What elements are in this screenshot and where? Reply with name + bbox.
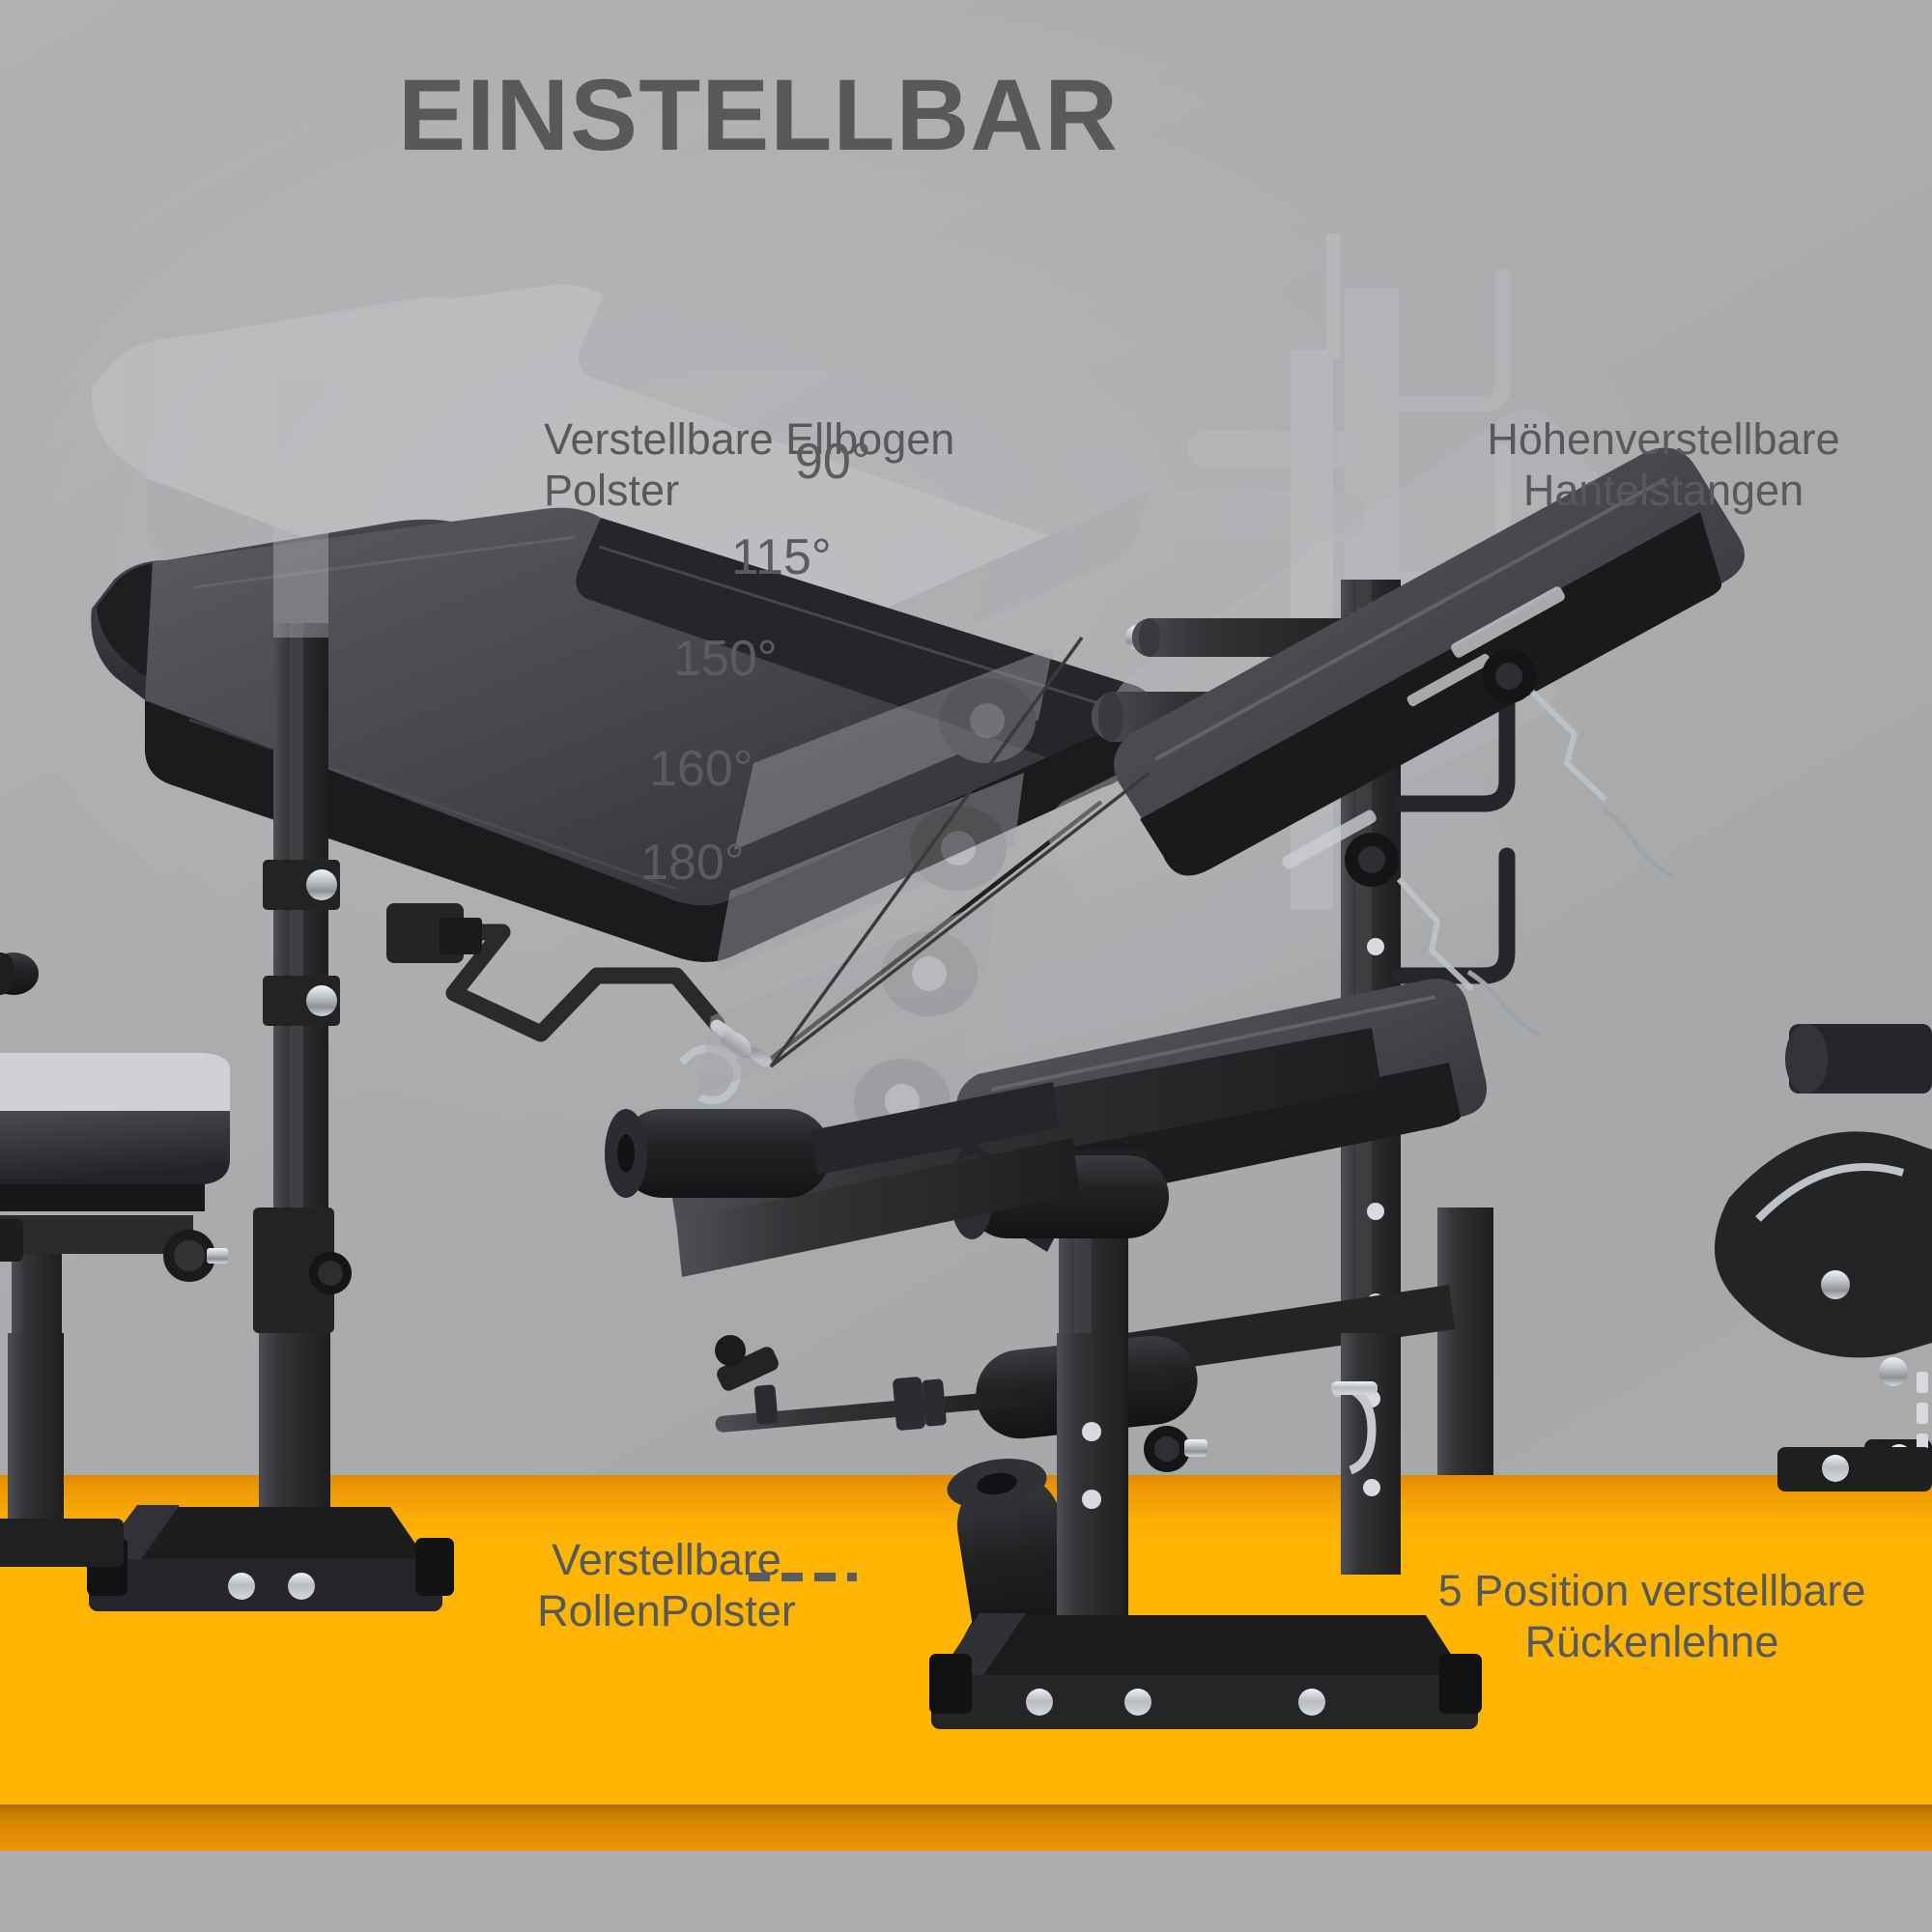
angle-label-115: 115° [731, 528, 832, 586]
callout-backrest: 5 Position verstellbare Rückenlehne [1381, 1565, 1922, 1667]
callout-roller-pad-line2: RollenPolster [464, 1585, 869, 1636]
callout-elbow-pad: Verstellbare Ellbogen Polster [544, 413, 998, 516]
callout-roller-pad: Verstellbare RollenPolster [464, 1534, 869, 1636]
floor-band-shadow [0, 1804, 1932, 1851]
angle-label-90: 90° [795, 433, 871, 491]
angle-label-160: 160° [649, 740, 753, 798]
callout-barbell-holders-line2: Hantelstangen [1403, 465, 1924, 516]
angle-label-150: 150° [673, 630, 778, 688]
callout-barbell-holders: Höhenverstellbare Hantelstangen [1403, 413, 1924, 516]
callout-elbow-pad-line2: Polster [544, 465, 998, 516]
callout-roller-dashed-connector [749, 1573, 857, 1581]
callout-elbow-pad-line1: Verstellbare Ellbogen [544, 413, 998, 465]
callout-backrest-line1: 5 Position verstellbare [1381, 1565, 1922, 1616]
angle-label-180: 180° [640, 834, 745, 892]
floor-base-strip [0, 1851, 1932, 1932]
callout-barbell-holders-line1: Höhenverstellbare [1403, 413, 1924, 465]
infographic-canvas: EINSTELLBAR Verstellbare Ellbogen Polste… [0, 0, 1932, 1932]
callout-backrest-line2: Rückenlehne [1381, 1616, 1922, 1667]
background-vignette [0, 0, 1932, 1507]
page-title: EINSTELLBAR [0, 60, 1517, 172]
